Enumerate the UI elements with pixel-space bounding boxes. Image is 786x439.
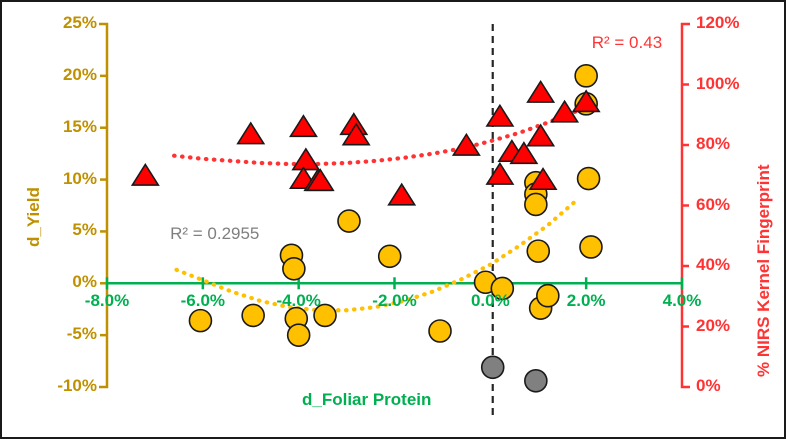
x-axis-tick-label: 2.0%	[546, 291, 626, 311]
data-point-triangle	[487, 105, 513, 126]
r-squared-annotation: R² = 0.43	[592, 33, 662, 53]
chart-container: d_Yield % NIRS Kernel Fingerprint d_Foli…	[0, 0, 786, 439]
data-point-circle	[482, 356, 504, 378]
y-axis-left-tick-label: 5%	[31, 220, 97, 240]
y-axis-left-line	[99, 24, 107, 387]
data-point-circle	[527, 240, 549, 262]
data-point-triangle	[487, 163, 513, 184]
x-axis-title: d_Foliar Protein	[302, 390, 431, 410]
data-point-circle	[525, 193, 547, 215]
y-axis-right-tick-label: 80%	[696, 134, 766, 154]
x-axis-tick-label: -8.0%	[67, 291, 147, 311]
x-axis-tick-label: 0.0%	[450, 291, 530, 311]
x-axis-tick-label: -4.0%	[259, 291, 339, 311]
y-axis-right-tick-label: 60%	[696, 195, 766, 215]
data-point-triangle	[389, 184, 415, 205]
y-axis-left-tick-label: -10%	[31, 376, 97, 396]
y-axis-right-tick-label: 120%	[696, 13, 766, 33]
data-point-circle	[288, 324, 310, 346]
data-point-triangle	[528, 81, 554, 102]
data-point-circle	[575, 65, 597, 87]
r-squared-annotation: R² = 0.2955	[170, 224, 259, 244]
y-axis-left-tick-label: 25%	[31, 13, 97, 33]
y-axis-left-tick-label: 15%	[31, 117, 97, 137]
y-axis-right-tick-label: 0%	[696, 376, 766, 396]
x-axis-tick-label: -2.0%	[355, 291, 435, 311]
y-axis-left-tick-label: 20%	[31, 65, 97, 85]
y-axis-left-tick-label: -5%	[31, 324, 97, 344]
x-axis-tick-label: -6.0%	[163, 291, 243, 311]
data-point-circle	[525, 370, 547, 392]
data-point-circle	[338, 210, 360, 232]
data-point-circle	[379, 245, 401, 267]
data-point-circle	[429, 320, 451, 342]
y-axis-right-tick-label: 40%	[696, 255, 766, 275]
data-point-triangle	[293, 149, 319, 170]
data-point-circle	[189, 310, 211, 332]
axes-layer	[99, 24, 690, 417]
data-point-triangle	[132, 164, 158, 185]
y-axis-left-tick-label: 0%	[31, 272, 97, 292]
y-axis-right-tick-label: 100%	[696, 74, 766, 94]
y-axis-right-tick-label: 20%	[696, 316, 766, 336]
scatter-plot-canvas	[2, 2, 786, 439]
data-point-circle	[580, 236, 602, 258]
x-axis-tick-label: 4.0%	[642, 291, 722, 311]
data-point-triangle	[238, 123, 264, 144]
data-point-circle	[283, 258, 305, 280]
data-point-triangle	[290, 116, 316, 137]
data-point-circle	[578, 168, 600, 190]
y-axis-left-tick-label: 10%	[31, 169, 97, 189]
